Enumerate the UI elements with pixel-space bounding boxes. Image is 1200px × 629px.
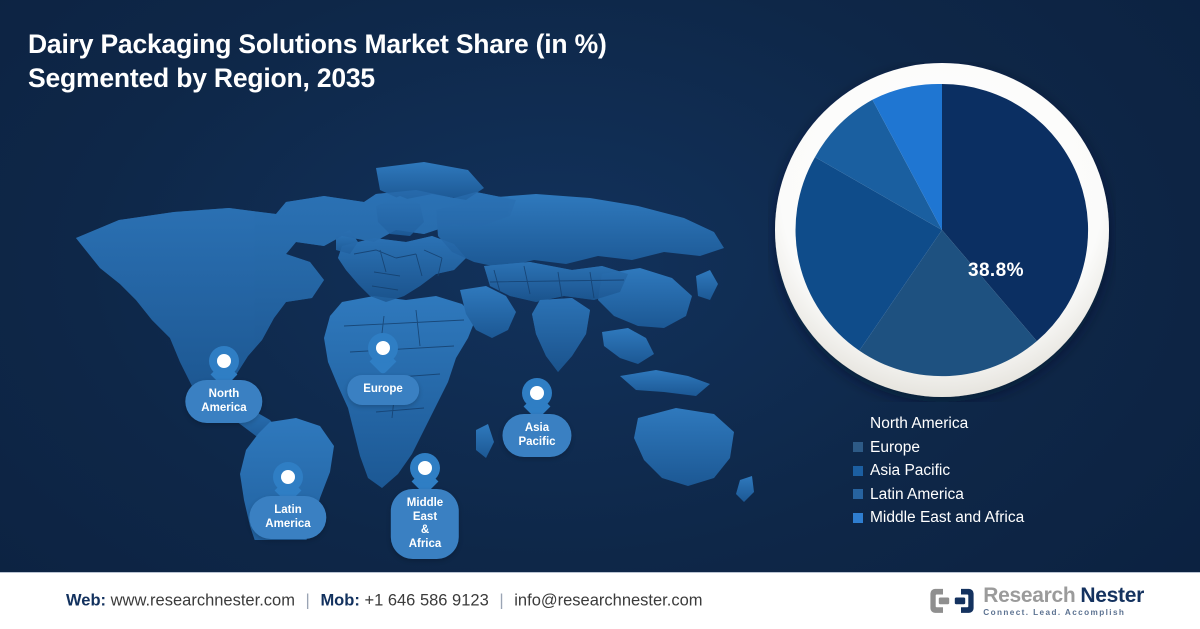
legend-label: Europe [870,440,920,456]
pie-data-label-north-america: 38.8% [968,260,1024,282]
footer-web-value[interactable]: www.researchnester.com [111,592,295,610]
page-title: Dairy Packaging Solutions Market Share (… [28,28,788,96]
legend-label: Latin America [870,487,964,503]
footer-mob-value[interactable]: +1 646 586 9123 [364,592,488,610]
main-panel: Dairy Packaging Solutions Market Share (… [0,0,1200,572]
infographic-canvas: Dairy Packaging Solutions Market Share (… [0,0,1200,628]
footer-separator-2: | [499,592,503,610]
map-pin-icon [410,453,440,493]
pie-chart: 38.8% [768,62,1116,402]
legend-swatch [853,442,863,452]
map-marker-label-asia-pacific: Asia Pacific [502,414,571,457]
legend-swatch [853,466,863,476]
legend-label: Asia Pacific [870,463,950,479]
legend-label: North America [870,416,968,432]
footer-separator-1: | [306,592,310,610]
footer-email[interactable]: info@researchnester.com [514,592,702,610]
legend-label: Middle East and Africa [870,510,1024,526]
footer-bar: Web: www.researchnester.com | Mob: +1 64… [0,572,1200,629]
legend-item-asia-pacific[interactable]: Asia Pacific [853,459,1024,483]
logo-mark-icon [930,588,974,614]
legend-swatch [853,489,863,499]
legend-item-europe[interactable]: Europe [853,436,1024,460]
map-pin-icon [522,378,552,418]
logo-tagline: Connect. Lead. Accomplish [983,609,1144,617]
chart-legend: North America Europe Asia Pacific Latin … [853,412,1024,530]
title-line-2: Segmented by Region, 2035 [28,62,788,96]
logo-word-nester: Nester [1080,584,1144,607]
map-pin-icon [368,333,398,373]
legend-item-latin-america[interactable]: Latin America [853,483,1024,507]
map-marker-label-europe: Europe [347,375,419,405]
footer-contact: Web: www.researchnester.com | Mob: +1 64… [66,592,703,611]
legend-swatch [853,513,863,523]
map-marker-label-latin-america: Latin America [249,496,326,539]
map-marker-label-middle-east-africa: Middle East & Africa [391,489,459,559]
pie-chart-svg [768,62,1116,402]
legend-item-middle-east-africa[interactable]: Middle East and Africa [853,506,1024,530]
map-marker-label-north-america: North America [185,380,262,423]
title-line-1: Dairy Packaging Solutions Market Share (… [28,29,607,59]
legend-item-north-america[interactable]: North America [853,412,1024,436]
footer-web-label: Web: [66,592,106,610]
world-map: North America Europe Asia Pacific Latin … [24,150,754,540]
footer-mob-label: Mob: [320,592,359,610]
logo-text: ResearchNester Connect. Lead. Accomplish [983,585,1144,617]
logo-word-research: Research [983,584,1075,607]
logo-wordmark: ResearchNester [983,585,1144,606]
pie-slices [796,84,1089,376]
research-nester-logo[interactable]: ResearchNester Connect. Lead. Accomplish [930,585,1144,617]
